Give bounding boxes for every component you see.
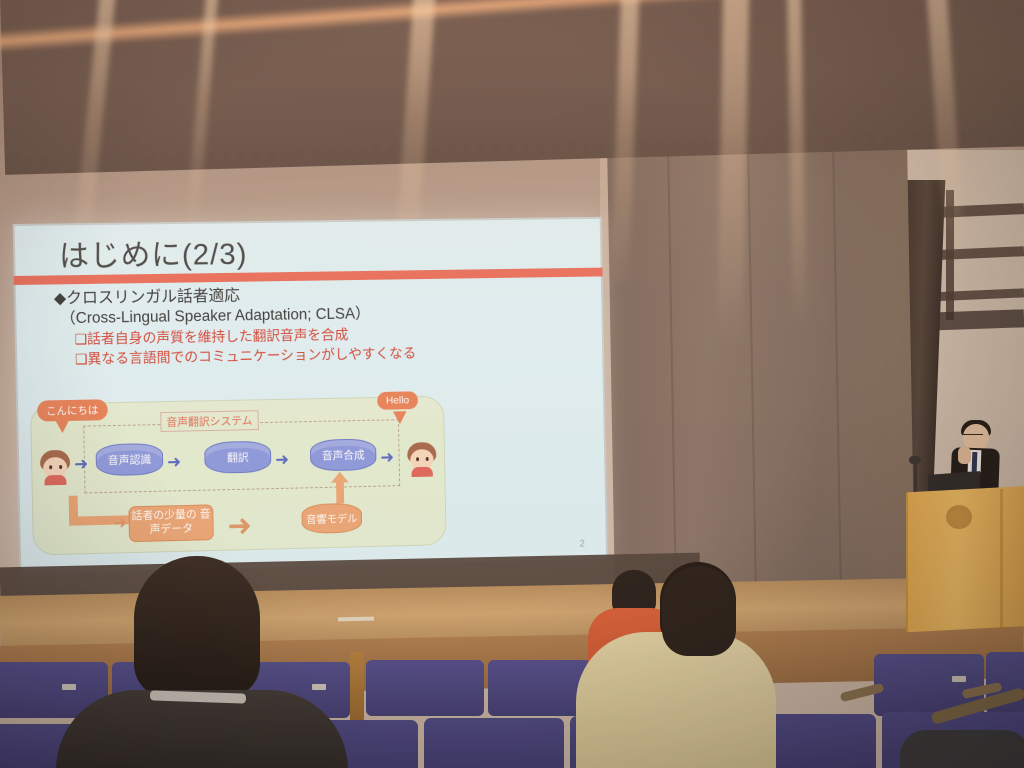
seat-number-plate xyxy=(62,684,76,690)
glasses-icon xyxy=(963,434,983,440)
arrow-icon: ➜ xyxy=(275,451,289,468)
bubble-tail xyxy=(55,420,69,433)
process-box-asr: 音声認識 xyxy=(95,443,163,476)
seat-number-plate xyxy=(952,676,966,682)
speech-translation-diagram: 音声翻訳システム こんにちは ➜ 音声認識 ➜ 翻訳 ➜ 音声合成 ➜ Hell… xyxy=(30,396,447,556)
projection-screen: はじめに(2/3) ◆クロスリンガル話者適応 （Cross-Lingual Sp… xyxy=(13,217,608,576)
process-box-tts: 音声合成 xyxy=(310,438,377,471)
process-box-translate: 翻訳 xyxy=(204,441,271,474)
arrow-icon: ➜ xyxy=(380,449,394,466)
speaker-data-box: 話者の少量の 音声データ xyxy=(128,504,213,542)
seat-back[interactable] xyxy=(366,660,484,716)
acoustic-model-box: 音響モデル xyxy=(301,503,362,534)
arrow-icon: ➜ xyxy=(227,511,252,541)
audience-member-backrow xyxy=(900,730,1024,768)
speech-bubble-japanese: こんにちは xyxy=(37,399,107,421)
seat-number-plate xyxy=(312,684,326,690)
speaker-hand xyxy=(958,447,971,464)
slide-body: ◆クロスリンガル話者適応 （Cross-Lingual Speaker Adap… xyxy=(54,281,601,370)
avatar-english-listener xyxy=(407,442,437,476)
arrow-icon: ➜ xyxy=(167,453,181,470)
seat-armrest xyxy=(350,652,364,726)
model-feedback-arrow xyxy=(336,480,344,504)
balcony-post xyxy=(946,190,954,320)
podium-edge xyxy=(1000,489,1003,629)
seat[interactable] xyxy=(424,718,564,768)
bubble-tail xyxy=(393,411,407,424)
slide-title: はじめに(2/3) xyxy=(59,229,248,275)
lecture-hall-photo: はじめに(2/3) ◆クロスリンガル話者適応 （Cross-Lingual Sp… xyxy=(0,0,1024,768)
microphone-stand xyxy=(914,462,917,494)
arrow-icon: ➜ xyxy=(113,514,127,531)
podium-emblem-icon xyxy=(946,505,972,529)
arrow-head-icon xyxy=(331,472,349,483)
speech-bubble-english: Hello xyxy=(377,391,418,410)
microphone-icon xyxy=(909,456,921,464)
avatar-japanese-speaker xyxy=(40,450,71,485)
slide-page-number: 2 xyxy=(579,539,585,550)
stage-floor-marking xyxy=(338,617,374,622)
speaker-data-line1: 話者の少量の 音声データ xyxy=(129,509,212,538)
speaker-tie xyxy=(972,452,978,472)
arrow-icon: ➜ xyxy=(74,455,88,472)
system-label: 音声翻訳システム xyxy=(160,410,258,432)
